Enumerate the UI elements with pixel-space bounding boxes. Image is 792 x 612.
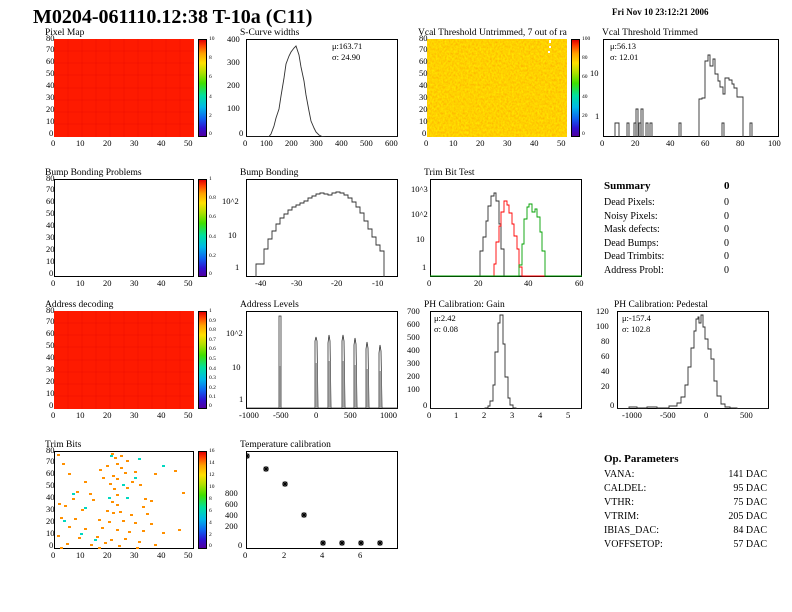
- y-tick: 40: [46, 352, 55, 362]
- y-tick: 60: [46, 328, 55, 338]
- x-tick: 0: [51, 278, 55, 288]
- colorbar-tick: 0: [209, 543, 212, 549]
- y-tick: 80: [46, 305, 55, 315]
- x-tick: 300: [310, 138, 323, 148]
- x-tick: 1000: [380, 410, 397, 420]
- chart-address-levels[interactable]: Address Levels 10^2 10 1 -1000 -500 0 50…: [222, 300, 402, 418]
- y-tick: 200: [225, 521, 238, 531]
- colorbar-tick: 8: [209, 55, 212, 61]
- y-tick: 30: [419, 92, 428, 102]
- x-tick: 40: [157, 550, 166, 560]
- stats-box: μ:163.71 σ: 24.90: [332, 41, 362, 63]
- y-tick: 40: [46, 492, 55, 502]
- colorbar: [198, 179, 207, 277]
- y-tick: 10: [232, 362, 241, 372]
- y-tick: 100: [596, 321, 609, 331]
- colorbar-tick: 16: [209, 448, 215, 454]
- x-tick: -500: [273, 410, 289, 420]
- summary-value: 0: [724, 223, 729, 237]
- y-tick: 10: [228, 230, 237, 240]
- y-tick: 10: [419, 116, 428, 126]
- x-tick: 10: [76, 410, 85, 420]
- op-parameter-value: 205 DAC: [709, 510, 767, 524]
- scatter-canvas: [54, 451, 194, 549]
- x-tick: 500: [360, 138, 373, 148]
- stat-sigma: σ: 12.01: [610, 52, 638, 63]
- colorbar-tick: 14: [209, 460, 215, 466]
- y-tick: 0: [422, 128, 426, 138]
- op-parameter-vthr: VTHR: 75 DAC: [604, 496, 784, 510]
- colorbar-tick: 6: [209, 508, 212, 514]
- colorbar: [198, 311, 207, 409]
- stat-sigma: σ: 0.08: [434, 324, 458, 335]
- y-tick: 0: [239, 128, 243, 138]
- x-tick: -1000: [622, 410, 642, 420]
- heatmap-canvas: [427, 39, 567, 137]
- summary-label: Dead Bumps:: [604, 238, 659, 249]
- colorbar-tick: 2: [209, 113, 212, 119]
- x-tick: 30: [130, 550, 139, 560]
- colorbar-tick: 0: [209, 271, 212, 277]
- y-tick: 60: [46, 56, 55, 66]
- x-tick: 2: [282, 550, 286, 560]
- y-tick: 100: [407, 384, 420, 394]
- op-parameter-label: VANA:: [604, 469, 634, 480]
- x-tick: 4: [320, 550, 324, 560]
- y-tick: 70: [46, 456, 55, 466]
- summary-row-address-problems: Address Probl: 0: [604, 264, 784, 278]
- x-tick: 30: [130, 138, 139, 148]
- x-tick: 100: [260, 138, 273, 148]
- y-tick: 70: [46, 44, 55, 54]
- chart-title: Trim Bit Test: [424, 168, 475, 178]
- y-tick: 0: [49, 128, 53, 138]
- x-tick: 2: [482, 410, 486, 420]
- y-tick: 800: [225, 488, 238, 498]
- op-parameter-label: CALDEL:: [604, 483, 646, 494]
- y-tick: 10: [46, 388, 55, 398]
- op-parameter-value: 95 DAC: [709, 482, 767, 496]
- summary-row-dead-bumps: Dead Bumps: 0: [604, 237, 784, 251]
- x-tick: 5: [566, 410, 570, 420]
- y-tick: 10^2: [411, 209, 428, 219]
- summary-label: Mask defects:: [604, 224, 660, 235]
- chart-title: S-Curve widths: [240, 28, 299, 38]
- chart-vcal-threshold-untrimmed[interactable]: Vcal Threshold Untrimmed, 7 out of ra 80…: [406, 28, 594, 146]
- colorbar-tick: 10: [209, 484, 215, 490]
- y-tick: 1: [239, 394, 243, 404]
- y-tick: 50: [419, 68, 428, 78]
- chart-bump-bonding-problems[interactable]: Bump Bonding Problems 80 70 60 50 40 30 …: [33, 168, 218, 286]
- y-tick: 600: [407, 319, 420, 329]
- stat-mu: μ:-157.4: [622, 313, 651, 324]
- chart-title: Address Levels: [240, 300, 299, 310]
- x-tick: -40: [255, 278, 266, 288]
- chart-title: Bump Bonding Problems: [45, 168, 142, 178]
- chart-vcal-threshold-trimmed[interactable]: Vcal Threshold Trimmed μ:56.13 σ: 12.01 …: [600, 28, 785, 146]
- x-tick: 40: [524, 278, 533, 288]
- histogram-lines: [430, 179, 582, 277]
- y-tick: 100: [227, 103, 240, 113]
- colorbar-tick: 0.6: [209, 214, 216, 220]
- colorbar-tick: 0.8: [209, 327, 216, 333]
- x-tick: -10: [372, 278, 383, 288]
- y-tick: 10: [590, 68, 599, 78]
- colorbar-tick: 0.9: [209, 318, 216, 324]
- y-tick: 300: [227, 57, 240, 67]
- x-tick: -1000: [239, 410, 259, 420]
- y-tick: 40: [601, 366, 610, 376]
- y-tick: 0: [238, 540, 242, 550]
- colorbar-tick: 2: [209, 532, 212, 538]
- y-tick: 60: [46, 468, 55, 478]
- x-tick: 20: [103, 410, 112, 420]
- y-tick: 400: [227, 34, 240, 44]
- chart-trim-bits[interactable]: Trim Bits: [33, 440, 218, 558]
- chart-s-curve-widths[interactable]: S-Curve widths μ:163.71 σ: 24.90 400 300…: [222, 28, 400, 146]
- summary-label: Address Probl:: [604, 265, 664, 276]
- x-tick: 100: [768, 138, 781, 148]
- y-tick: 50: [46, 68, 55, 78]
- x-tick: 20: [103, 138, 112, 148]
- x-tick: 0: [51, 550, 55, 560]
- colorbar-tick: 0.4: [209, 366, 216, 372]
- y-tick: 0: [49, 540, 53, 550]
- chart-ph-calibration-pedestal[interactable]: PH Calibration: Pedestal μ:-157.4 σ: 102…: [600, 300, 788, 418]
- y-tick: 400: [407, 345, 420, 355]
- colorbar-tick: 4: [209, 94, 212, 100]
- colorbar-tick: 0.2: [209, 385, 216, 391]
- y-tick: 300: [407, 358, 420, 368]
- colorbar-tick: 0.2: [209, 253, 216, 259]
- chart-title: Bump Bonding: [240, 168, 298, 178]
- x-tick: 0: [600, 138, 604, 148]
- x-tick: 60: [701, 138, 710, 148]
- timestamp: Fri Nov 10 23:12:21 2006: [612, 7, 709, 17]
- x-tick: 50: [184, 410, 193, 420]
- x-tick: 40: [157, 278, 166, 288]
- chart-title: PH Calibration: Pedestal: [614, 300, 708, 310]
- y-tick: 600: [225, 499, 238, 509]
- y-tick: 10: [46, 256, 55, 266]
- stat-mu: μ:163.71: [332, 41, 362, 52]
- page-title: M0204-061110.12:38 T-10a (C11): [33, 6, 312, 29]
- x-tick: 0: [704, 410, 708, 420]
- y-tick: 30: [46, 232, 55, 242]
- y-tick: 400: [225, 510, 238, 520]
- chart-bump-bonding[interactable]: Bump Bonding 10^2 10 1 -40 -30 -20 -10: [222, 168, 400, 286]
- y-tick: 80: [46, 445, 55, 455]
- summary-heading-value: 0: [724, 180, 730, 194]
- chart-title: Vcal Threshold Untrimmed, 7 out of ra: [418, 28, 567, 38]
- chart-address-decoding[interactable]: Address decoding 80 70 60 50 40 30 20 10…: [33, 300, 218, 418]
- colorbar-tick: 0: [209, 403, 212, 409]
- colorbar-tick: 0.6: [209, 346, 216, 352]
- op-parameter-value: 75 DAC: [709, 496, 767, 510]
- summary-row-mask-defects: Mask defects: 0: [604, 223, 784, 237]
- y-tick: 50: [46, 340, 55, 350]
- y-tick: 1: [595, 111, 599, 121]
- op-parameter-value: 141 DAC: [709, 468, 767, 482]
- colorbar-tick: 100: [582, 36, 590, 42]
- colorbar: [198, 451, 207, 549]
- summary-label: Dead Pixels:: [604, 197, 655, 208]
- stats-box: μ:56.13 σ: 12.01: [610, 41, 638, 63]
- colorbar-tick: 4: [209, 520, 212, 526]
- y-tick: 40: [46, 80, 55, 90]
- summary-row-dead-trimbits: Dead Trimbits: 0: [604, 250, 784, 264]
- histogram-line: [246, 39, 398, 137]
- x-tick: 4: [538, 410, 542, 420]
- y-tick: 40: [46, 220, 55, 230]
- colorbar-tick: 10: [209, 36, 215, 42]
- summary-value: 0: [724, 196, 729, 210]
- y-tick: 30: [46, 364, 55, 374]
- colorbar-tick: 60: [582, 74, 588, 80]
- x-tick: 0: [424, 138, 428, 148]
- op-parameter-ibias-dac: IBIAS_DAC: 84 DAC: [604, 524, 784, 538]
- x-tick: 20: [476, 138, 485, 148]
- x-tick: 200: [285, 138, 298, 148]
- stats-box: μ:2.42 σ: 0.08: [434, 313, 458, 335]
- colorbar-tick: 40: [582, 94, 588, 100]
- op-parameter-label: VTHR:: [604, 497, 634, 508]
- op-parameter-value: 57 DAC: [709, 538, 767, 552]
- y-tick: 50: [46, 480, 55, 490]
- heatmap-canvas: [54, 311, 194, 409]
- x-tick: 0: [314, 410, 318, 420]
- summary-value: 0: [724, 210, 729, 224]
- colorbar: [198, 39, 207, 137]
- x-tick: 30: [130, 410, 139, 420]
- y-tick: 10: [416, 234, 425, 244]
- op-parameter-voffsetop: VOFFSETOP: 57 DAC: [604, 538, 784, 552]
- colorbar-tick: 12: [209, 472, 215, 478]
- x-tick: 0: [243, 138, 247, 148]
- x-tick: 30: [503, 138, 512, 148]
- y-tick: 500: [407, 332, 420, 342]
- histogram-line: [246, 179, 398, 277]
- y-tick: 20: [46, 104, 55, 114]
- heatmap-canvas: [54, 39, 194, 137]
- x-tick: 60: [575, 278, 584, 288]
- colorbar-tick: 6: [209, 74, 212, 80]
- chart-trim-bit-test[interactable]: Trim Bit Test 10^3 10^2 10 1 0 20 40 60: [412, 168, 592, 286]
- y-tick: 20: [46, 376, 55, 386]
- y-tick: 70: [419, 44, 428, 54]
- x-tick: 0: [243, 550, 247, 560]
- colorbar-tick: 0.3: [209, 375, 216, 381]
- stat-sigma: σ: 24.90: [332, 52, 362, 63]
- chart-title: Vcal Threshold Trimmed: [602, 28, 698, 38]
- op-parameter-label: VTRIM:: [604, 511, 639, 522]
- op-parameter-label: IBIAS_DAC:: [604, 525, 659, 536]
- op-parameters-panel: Op. Parameters VANA: 141 DAC CALDEL: 95 …: [604, 452, 784, 552]
- y-tick: 20: [46, 516, 55, 526]
- x-tick: 50: [557, 138, 566, 148]
- summary-row-noisy-pixels: Noisy Pixels: 0: [604, 210, 784, 224]
- x-tick: 0: [427, 410, 431, 420]
- chart-title: PH Calibration: Gain: [424, 300, 505, 310]
- summary-label: Dead Trimbits:: [604, 251, 664, 262]
- x-tick: 30: [130, 278, 139, 288]
- y-tick: 80: [601, 336, 610, 346]
- y-tick: 0: [49, 400, 53, 410]
- colorbar-tick: 0.1: [209, 394, 216, 400]
- y-tick: 60: [46, 196, 55, 206]
- summary-label: Noisy Pixels:: [604, 211, 658, 222]
- summary-value: 0: [724, 264, 729, 278]
- y-tick: 20: [601, 381, 610, 391]
- x-tick: 20: [103, 278, 112, 288]
- y-tick: 20: [419, 104, 428, 114]
- colorbar-tick: 0.7: [209, 337, 216, 343]
- x-tick: 6: [358, 550, 362, 560]
- x-tick: 3: [510, 410, 514, 420]
- y-tick: 30: [46, 504, 55, 514]
- chart-title: Address decoding: [45, 300, 113, 310]
- stats-box: μ:-157.4 σ: 102.8: [622, 313, 651, 335]
- stat-mu: μ:2.42: [434, 313, 458, 324]
- x-tick: 400: [335, 138, 348, 148]
- histogram-line: [246, 311, 398, 409]
- op-parameters-heading: Op. Parameters: [604, 452, 784, 466]
- colorbar-tick: 0.4: [209, 234, 216, 240]
- summary-row-dead-pixels: Dead Pixels: 0: [604, 196, 784, 210]
- colorbar-tick: 80: [582, 55, 588, 61]
- chart-ph-calibration-gain[interactable]: PH Calibration: Gain μ:2.42 σ: 0.08 700 …: [412, 300, 592, 418]
- y-tick: 80: [46, 33, 55, 43]
- x-tick: 40: [157, 138, 166, 148]
- x-tick: 20: [474, 278, 483, 288]
- y-tick: 80: [419, 33, 428, 43]
- scatter-canvas: [246, 451, 398, 549]
- x-tick: 40: [157, 410, 166, 420]
- y-tick: 700: [407, 306, 420, 316]
- y-tick: 1: [235, 262, 239, 272]
- x-tick: 10: [76, 550, 85, 560]
- summary-value: 0: [724, 250, 729, 264]
- y-tick: 0: [610, 400, 614, 410]
- colorbar-tick: 0.5: [209, 356, 216, 362]
- y-tick: 30: [46, 92, 55, 102]
- x-tick: 50: [184, 278, 193, 288]
- x-tick: -500: [660, 410, 676, 420]
- y-tick: 0: [49, 268, 53, 278]
- y-tick: 60: [601, 351, 610, 361]
- x-tick: 600: [385, 138, 398, 148]
- y-tick: 200: [227, 80, 240, 90]
- op-parameter-vana: VANA: 141 DAC: [604, 468, 784, 482]
- x-tick: 0: [51, 410, 55, 420]
- op-parameter-label: VOFFSETOP:: [604, 539, 663, 550]
- x-tick: 10: [449, 138, 458, 148]
- stat-mu: μ:56.13: [610, 41, 638, 52]
- y-tick: 80: [46, 173, 55, 183]
- x-tick: -20: [331, 278, 342, 288]
- colorbar-tick: 0.8: [209, 195, 216, 201]
- colorbar-tick: 1: [209, 176, 212, 182]
- y-tick: 0: [423, 400, 427, 410]
- x-tick: 10: [76, 138, 85, 148]
- y-tick: 10^2: [226, 328, 243, 338]
- op-parameter-caldel: CALDEL: 95 DAC: [604, 482, 784, 496]
- colorbar-tick: 0: [582, 131, 585, 137]
- x-tick: 1: [454, 410, 458, 420]
- chart-pixel-map[interactable]: Pixel Map 80 70 60 50 40 30 20 10 0 0 10…: [33, 28, 218, 146]
- x-tick: 0: [51, 138, 55, 148]
- y-tick: 120: [596, 306, 609, 316]
- colorbar-tick: 0: [209, 131, 212, 137]
- x-tick: 20: [631, 138, 640, 148]
- chart-title: Temperature calibration: [240, 440, 331, 450]
- op-parameter-value: 84 DAC: [709, 524, 767, 538]
- x-tick: 500: [344, 410, 357, 420]
- x-tick: 10: [76, 278, 85, 288]
- y-tick: 200: [407, 371, 420, 381]
- x-tick: 0: [427, 278, 431, 288]
- colorbar: [571, 39, 580, 137]
- y-tick: 1: [422, 262, 426, 272]
- y-tick: 70: [46, 316, 55, 326]
- x-tick: 80: [736, 138, 745, 148]
- y-tick: 70: [46, 184, 55, 194]
- y-tick: 20: [46, 244, 55, 254]
- chart-temperature-calibration[interactable]: Temperature calibration 800 600 400 200 …: [222, 440, 402, 558]
- y-tick: 10^3: [411, 184, 428, 194]
- x-tick: 500: [740, 410, 753, 420]
- summary-panel: Summary 0 Dead Pixels: 0 Noisy Pixels: 0…: [604, 180, 784, 277]
- y-tick: 60: [419, 56, 428, 66]
- x-tick: 20: [103, 550, 112, 560]
- colorbar-tick: 1: [209, 308, 212, 314]
- x-tick: -30: [291, 278, 302, 288]
- stat-sigma: σ: 102.8: [622, 324, 651, 335]
- y-tick: 10^2: [222, 196, 239, 206]
- x-tick: 40: [530, 138, 539, 148]
- y-tick: 10: [46, 116, 55, 126]
- colorbar-tick: 20: [582, 113, 588, 119]
- y-tick: 50: [46, 208, 55, 218]
- x-tick: 50: [184, 138, 193, 148]
- x-tick: 40: [666, 138, 675, 148]
- x-tick: 50: [184, 550, 193, 560]
- y-tick: 40: [419, 80, 428, 90]
- op-parameter-vtrim: VTRIM: 205 DAC: [604, 510, 784, 524]
- summary-value: 0: [724, 237, 729, 251]
- colorbar-tick: 8: [209, 496, 212, 502]
- y-tick: 10: [46, 528, 55, 538]
- summary-heading: Summary: [604, 180, 650, 192]
